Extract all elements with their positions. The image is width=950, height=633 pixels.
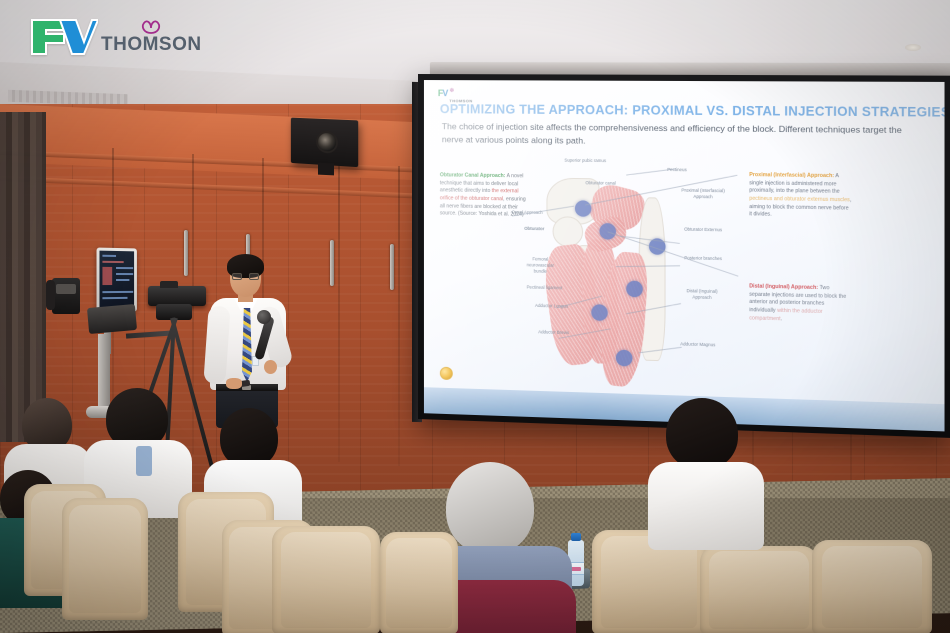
injection-marker <box>591 304 607 321</box>
block-heading: Distal (Inguinal) Approach: <box>749 283 818 291</box>
slide-title: OPTIMIZING THE APPROACH: PROXIMAL VS. DI… <box>440 102 940 120</box>
injection-marker <box>616 350 632 367</box>
anatomy-label-superior-pubic-ramus: Superior pubic ramus <box>563 158 608 164</box>
presenter-right-hand <box>264 360 277 374</box>
audience-chair[interactable] <box>272 526 380 633</box>
audience-chair[interactable] <box>812 540 932 633</box>
anatomy-label-obturator-canal: Obturator canal <box>581 180 620 186</box>
slide-content: FV ❄ THOMSON OPTIMIZING THE APPROACH: PR… <box>424 80 945 431</box>
ceiling-downlight <box>905 44 921 51</box>
screen-surface: FV ❄ THOMSON OPTIMIZING THE APPROACH: PR… <box>424 80 945 431</box>
anatomy-illustration: Superior pubic ramus Obturator canal Can… <box>528 159 741 403</box>
block-heading: Proximal (Interfascial) Approach: <box>749 172 834 179</box>
person-head <box>666 398 738 470</box>
fv-logo-icon <box>30 16 98 56</box>
microphone-head <box>257 310 271 324</box>
anatomy-label-obturator-externus: Obturator Externus <box>682 227 724 234</box>
slide-footer-badge <box>440 367 457 381</box>
gold-seal-icon <box>440 367 453 380</box>
bone-femur-head <box>553 216 584 247</box>
anatomy-label-adductor-brevis: Adductor Brevis <box>536 329 571 336</box>
glasses-icon <box>232 273 259 280</box>
person-body <box>648 462 764 550</box>
text-block-distal-inguinal-approach: Distal (Inguinal) Approach: Two separate… <box>749 283 851 325</box>
text-block-proximal-interfascial-approach: Proximal (Interfascial) Approach: A sing… <box>749 172 851 221</box>
anatomy-label-adductor-magnus: Adductor Magnus <box>678 341 718 348</box>
audience <box>0 380 950 633</box>
anatomy-label-distal-inguinal-approach: Distal (Inguinal) Approach <box>680 288 724 301</box>
person-head <box>446 462 534 554</box>
anatomy-label-obturator: Obturator <box>516 226 552 232</box>
person-head <box>220 408 278 468</box>
anatomy-label-pectineal-ligament: Pectineal ligament <box>520 284 569 291</box>
audience-chair[interactable] <box>700 546 818 633</box>
cabinet-handle[interactable] <box>330 240 334 286</box>
presenter-tie <box>242 308 252 382</box>
photo-scene: FV ❄ THOMSON OPTIMIZING THE APPROACH: PR… <box>0 0 950 633</box>
anatomy-label-femoral-neurovascular-bundle: Femoral neurovascular bundle <box>522 256 559 274</box>
slide-subtitle: The choice of injection site affects the… <box>442 120 910 150</box>
watermark-logo: THOMSON <box>30 16 202 56</box>
speaker-mount <box>318 163 334 176</box>
block-emphasis: pectineus and obturator externus muscles <box>749 196 850 204</box>
telephone-icon[interactable] <box>52 278 80 314</box>
audience-chair[interactable] <box>380 532 458 633</box>
slide-butterfly-icon: ❄ <box>449 87 472 94</box>
speaker-cone <box>316 131 338 154</box>
cabinet-handle[interactable] <box>184 230 188 276</box>
injection-marker <box>626 281 643 298</box>
butterfly-icon <box>140 19 162 35</box>
cabinet-handle[interactable] <box>390 244 394 290</box>
block-heading: Obturator Canal Approach: <box>440 172 506 179</box>
person-lanyard <box>136 446 152 476</box>
slide-logo-fv: FV <box>438 89 447 98</box>
wall-speaker-icon <box>291 118 358 168</box>
watermark-wordmark: THOMSON <box>101 35 202 54</box>
block-body-b: . <box>781 316 783 322</box>
anatomy-label-proximal-interfascial-approach: Proximal (Interfascial) Approach <box>680 188 726 201</box>
audience-chair[interactable] <box>62 498 148 620</box>
